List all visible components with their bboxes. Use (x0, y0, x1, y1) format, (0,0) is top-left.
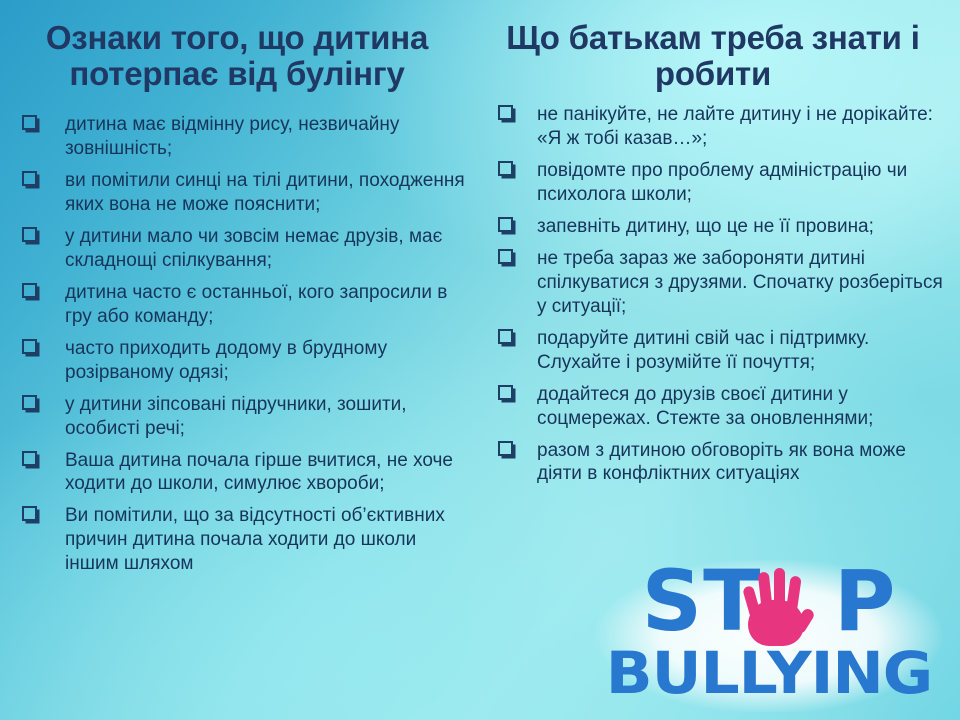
checkbox-square-icon (22, 283, 37, 298)
list-item-text: часто приходить додому в брудному розірв… (65, 338, 387, 383)
left-column: Ознаки того, що дитина потерпає від булі… (0, 0, 476, 720)
checkbox-square-icon (22, 395, 37, 410)
list-item-text: додайтеся до друзів своєї дитини у соцме… (537, 384, 873, 429)
slide-canvas: Ознаки того, що дитина потерпає від булі… (0, 0, 960, 720)
list-item: разом з дитиною обговоріть як вона може … (480, 439, 946, 487)
list-item-text: ви помітили синці на тілі дитини, походж… (65, 170, 465, 215)
checkbox-square-icon (498, 161, 513, 176)
list-item-text: у дитини зіпсовані підручники, зошити, о… (65, 394, 407, 439)
list-item-text: подаруйте дитині свій час і підтримку. С… (537, 328, 869, 373)
checkbox-square-icon (498, 441, 513, 456)
checkbox-square-icon (22, 339, 37, 354)
checkbox-square-icon (22, 171, 37, 186)
list-item-text: не треба зараз же забороняти дитині спіл… (537, 248, 943, 317)
list-item: у дитини мало чи зовсім немає друзів, ма… (8, 225, 466, 273)
list-item: не треба зараз же забороняти дитині спіл… (480, 247, 946, 319)
list-item: часто приходить додому в брудному розірв… (8, 337, 466, 385)
list-item-text: разом з дитиною обговоріть як вона може … (537, 440, 906, 485)
list-item: ви помітили синці на тілі дитини, походж… (8, 169, 466, 217)
list-item: подаруйте дитині свій час і підтримку. С… (480, 327, 946, 375)
list-item: у дитини зіпсовані підручники, зошити, о… (8, 393, 466, 441)
list-item: дитина часто є останньої, кого запросили… (8, 281, 466, 329)
checkbox-square-icon (22, 115, 37, 130)
checkbox-square-icon (498, 217, 513, 232)
list-item: дитина має відмінну рису, незвичайну зов… (8, 113, 466, 161)
checkbox-square-icon (22, 227, 37, 242)
stop-bullying-logo: ST O P BULLYING (588, 560, 950, 712)
handprint-icon (740, 564, 814, 648)
logo-text-p: P (834, 562, 897, 642)
list-item-text: запевніть дитину, що це не її провина; (537, 216, 874, 237)
right-column-heading: Що батькам треба знати і робити (480, 0, 946, 91)
list-item-text: дитина має відмінну рису, незвичайну зов… (65, 114, 399, 159)
checkbox-square-icon (22, 451, 37, 466)
list-item: Ваша дитина почала гірше вчитися, не хоч… (8, 449, 466, 497)
checkbox-square-icon (22, 506, 37, 521)
list-item-text: не панікуйте, не лайте дитину і не дорік… (537, 104, 933, 149)
list-item-text: у дитини мало чи зовсім немає друзів, ма… (65, 226, 442, 271)
list-item-text: дитина часто є останньої, кого запросили… (65, 282, 447, 327)
checkbox-square-icon (498, 385, 513, 400)
list-item: запевніть дитину, що це не її провина; (480, 215, 946, 239)
list-item-text: Ви помітили, що за відсутності об’єктивн… (65, 505, 445, 574)
checkbox-square-icon (498, 329, 513, 344)
checkbox-square-icon (498, 249, 513, 264)
list-item: не панікуйте, не лайте дитину і не дорік… (480, 103, 946, 151)
right-checklist: не панікуйте, не лайте дитину і не дорік… (480, 103, 946, 486)
list-item: Ви помітили, що за відсутності об’єктивн… (8, 504, 466, 576)
logo-text-bullying: BULLYING (577, 644, 960, 702)
left-column-heading: Ознаки того, що дитина потерпає від булі… (8, 0, 466, 91)
checkbox-square-icon (498, 105, 513, 120)
list-item: повідомте про проблему адміністрацію чи … (480, 159, 946, 207)
left-checklist: дитина має відмінну рису, незвичайну зов… (8, 113, 466, 576)
list-item-text: повідомте про проблему адміністрацію чи … (537, 160, 907, 205)
list-item: додайтеся до друзів своєї дитини у соцме… (480, 383, 946, 431)
list-item-text: Ваша дитина почала гірше вчитися, не хоч… (65, 450, 453, 495)
